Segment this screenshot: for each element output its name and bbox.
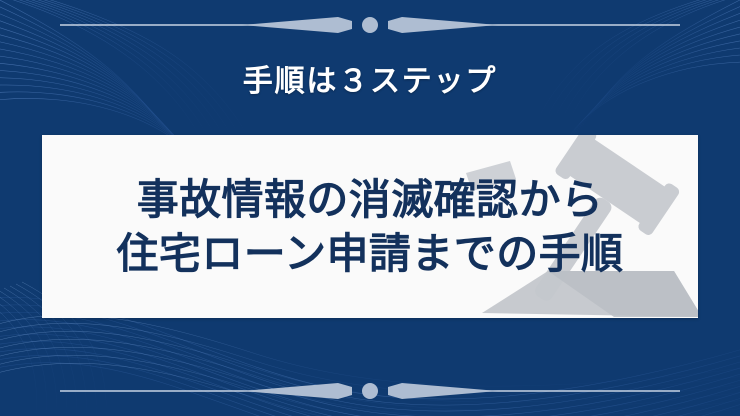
decorative-divider-icon: [60, 12, 680, 38]
page-heading: 手順は３ステップ: [0, 64, 740, 100]
divider-top: [0, 12, 740, 38]
title-line-2: 住宅ローン申請までの手順: [117, 228, 624, 279]
decorative-divider-icon: [60, 378, 680, 404]
title-line-1: 事故情報の消滅確認から: [137, 174, 604, 225]
title-text-block: 事故情報の消滅確認から 住宅ローン申請までの手順: [42, 135, 698, 318]
slide-canvas: 手順は３ステップ: [0, 0, 740, 416]
divider-bottom: [0, 378, 740, 404]
title-card: 事故情報の消滅確認から 住宅ローン申請までの手順: [42, 135, 698, 318]
